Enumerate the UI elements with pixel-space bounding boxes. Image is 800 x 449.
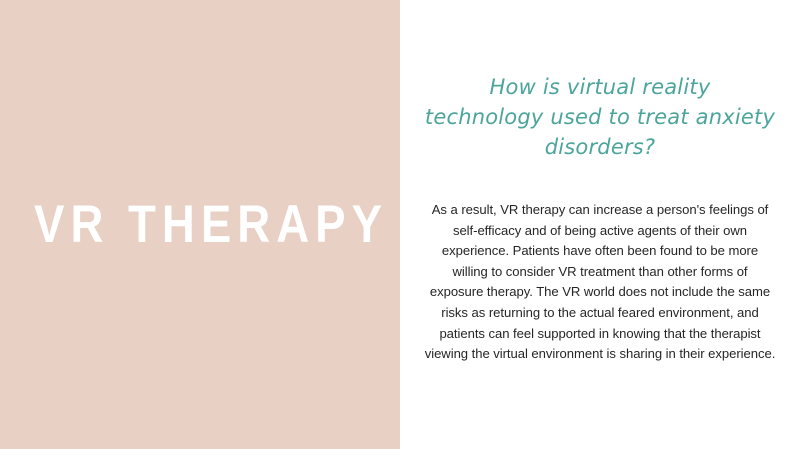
slide-canvas: VR THERAPY How is virtual reality techno… bbox=[0, 0, 800, 449]
question-heading: How is virtual reality technology used t… bbox=[418, 72, 782, 162]
left-accent-panel: VR THERAPY bbox=[0, 0, 400, 449]
body-paragraph: As a result, VR therapy can increase a p… bbox=[424, 200, 776, 365]
question-heading-line-2: technology used to treat anxiety bbox=[418, 102, 782, 132]
right-content-panel: How is virtual reality technology used t… bbox=[400, 0, 800, 449]
slide-brand-title: VR THERAPY bbox=[28, 196, 372, 254]
question-heading-line-3: disorders? bbox=[418, 132, 782, 162]
question-heading-line-1: How is virtual reality bbox=[418, 72, 782, 102]
